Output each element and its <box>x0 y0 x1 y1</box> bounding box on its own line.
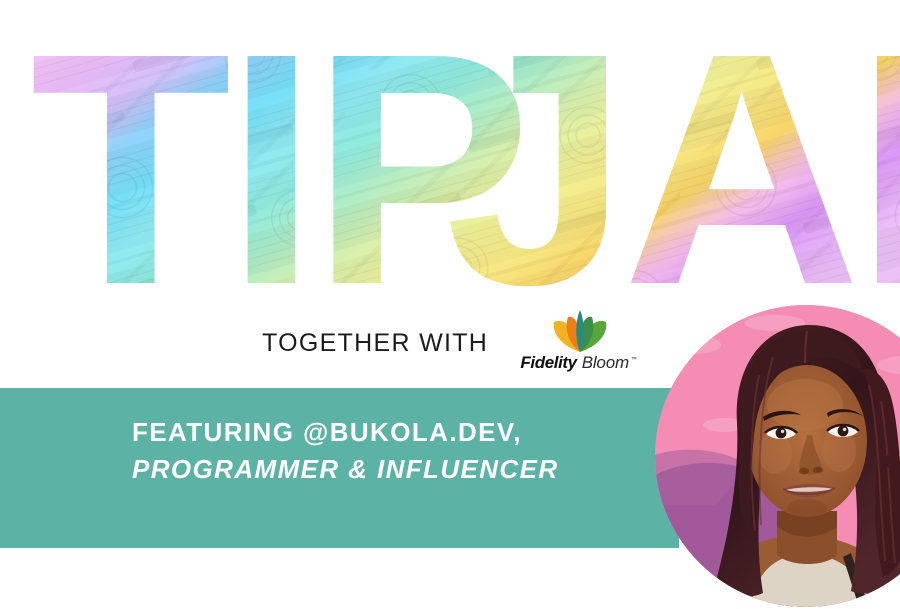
brand-bloom: Bloom <box>582 354 629 371</box>
feature-banner: FEATURING @BUKOLA.DEV, PROGRAMMER & INFL… <box>0 388 679 548</box>
feature-line-primary: FEATURING @BUKOLA.DEV, <box>132 414 652 451</box>
headline-banner: TIP JAR <box>0 0 900 300</box>
fidelity-bloom-wordmark: Fidelity Bloom ™ <box>516 354 644 374</box>
guest-portrait-avatar <box>655 305 900 607</box>
guest-portrait-image <box>655 305 900 607</box>
together-with-label: TOGETHER WITH <box>262 331 488 356</box>
fidelity-bloom-logo: Fidelity Bloom ™ <box>516 310 622 376</box>
headline-artwork: TIP JAR <box>0 0 900 300</box>
feature-banner-text: FEATURING @BUKOLA.DEV, PROGRAMMER & INFL… <box>132 414 652 488</box>
sponsor-row: TOGETHER WITH Fidelity Bloom ™ <box>262 312 622 374</box>
brand-fidelity: Fidelity <box>520 354 576 371</box>
promo-graphic: TIP JAR TOGETHER WITH <box>0 0 900 609</box>
trademark-symbol: ™ <box>631 357 637 363</box>
feature-line-secondary: PROGRAMMER & INFLUENCER <box>132 451 652 488</box>
bloom-petal-logo-icon <box>544 310 616 352</box>
